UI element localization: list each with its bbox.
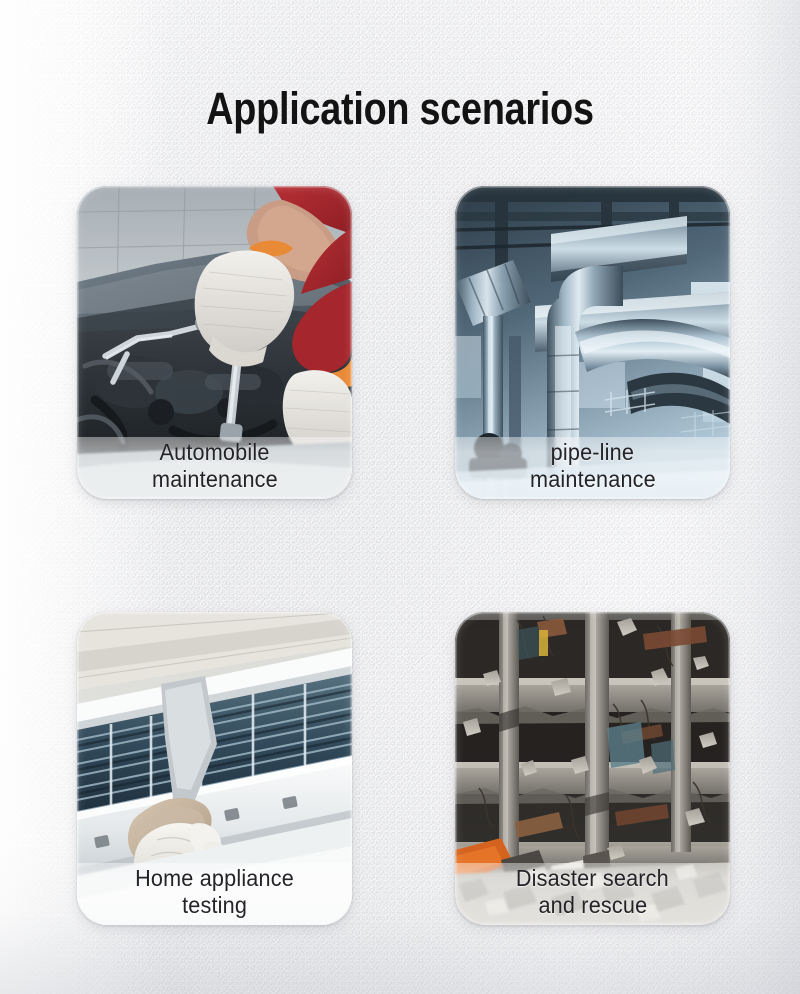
scenario-card-pipe-line-maintenance[interactable]: pipe-line maintenance [455,186,730,499]
home-appliance-testing-caption: Home appliance testing [77,863,352,925]
caption-line-2: testing [182,892,247,919]
disaster-search-and-rescue-caption: Disaster search and rescue [455,863,730,925]
caption-line-2: and rescue [538,892,647,919]
caption-line-2: maintenance [152,466,278,493]
scenario-card-disaster-search-and-rescue[interactable]: Disaster search and rescue [455,612,730,925]
application-scenarios-page: Application scenarios [0,0,800,994]
scenario-card-home-appliance-testing[interactable]: Home appliance testing [77,612,352,925]
caption-line-1: Home appliance [135,865,294,892]
caption-line-1: Automobile [159,439,269,466]
caption-line-1: pipe-line [551,439,634,466]
caption-line-1: Disaster search [516,865,669,892]
page-title: Application scenarios [64,83,736,135]
scenario-card-grid: Automobile maintenance [77,186,732,925]
pipe-line-maintenance-caption: pipe-line maintenance [455,437,730,499]
caption-line-2: maintenance [530,466,656,493]
scenario-card-automobile-maintenance[interactable]: Automobile maintenance [77,186,352,499]
automobile-maintenance-caption: Automobile maintenance [77,437,352,499]
